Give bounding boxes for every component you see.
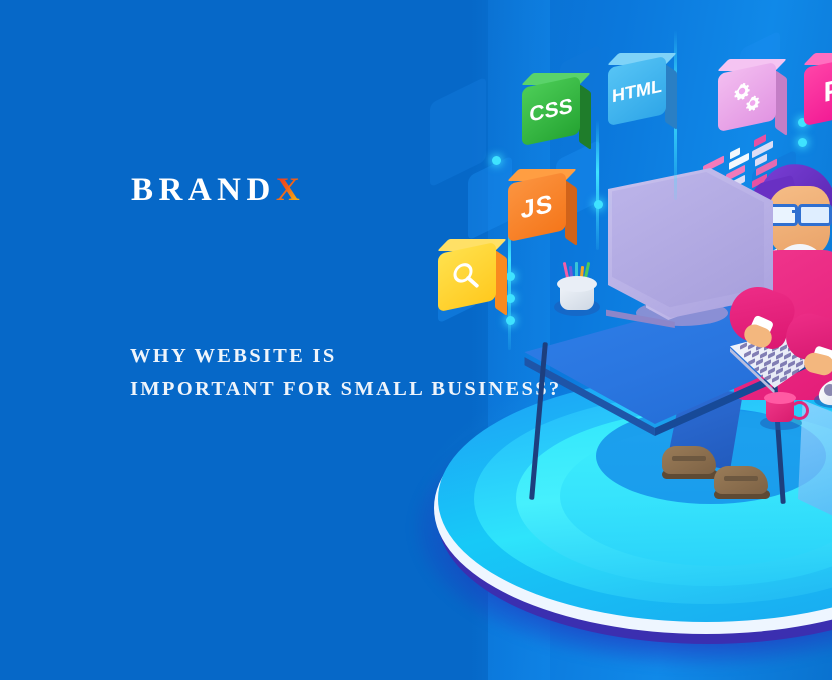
connector-dot-2 — [506, 294, 515, 303]
html-icon: HTML — [608, 56, 666, 126]
tech-card-php-label: P — [824, 73, 832, 109]
keyboard-key — [760, 351, 767, 359]
brand-logo: BRANDX — [131, 174, 305, 207]
illustration: JS CSS HTML — [400, 0, 832, 680]
connector-dot-3 — [506, 316, 515, 325]
boot-strap-left — [672, 456, 706, 461]
keyboard-key — [768, 367, 775, 375]
pencil-cup-lip — [557, 276, 597, 292]
brand-name: BRAND — [131, 172, 276, 208]
tech-card-html[interactable]: HTML — [608, 62, 666, 120]
connector-dot-5 — [594, 200, 603, 209]
keyboard-key — [764, 359, 771, 367]
tech-card-html-side — [665, 64, 677, 130]
glasses-icon — [764, 204, 832, 221]
javascript-icon: JS — [508, 172, 566, 242]
tech-card-javascript-side — [565, 180, 577, 246]
keyboard-key — [776, 352, 783, 360]
glasses-lens-right — [798, 204, 832, 226]
tech-card-javascript[interactable]: JS — [508, 178, 566, 236]
search-icon — [438, 242, 496, 312]
keyboard-key — [796, 361, 803, 369]
keyboard-key — [740, 342, 747, 350]
keyboard-key — [752, 351, 759, 359]
tech-card-php[interactable]: P — [804, 62, 832, 120]
tech-card-css-label: CSS — [529, 94, 572, 127]
keyboard-key — [772, 359, 779, 367]
tech-card-javascript-label: JS — [521, 189, 554, 225]
php-icon: P — [804, 56, 832, 126]
keyboard-key — [772, 375, 779, 383]
brand-accent-letter: X — [276, 172, 305, 208]
keyboard-key — [780, 360, 787, 368]
tech-card-css[interactable]: CSS — [522, 82, 580, 140]
mug-rim — [764, 392, 796, 404]
tech-card-css-side — [579, 84, 591, 150]
connector-line-2 — [596, 120, 599, 250]
tech-card-gears[interactable] — [718, 68, 776, 126]
keyboard-key — [756, 359, 763, 367]
css-icon: CSS — [522, 76, 580, 146]
tech-card-search[interactable] — [438, 248, 496, 306]
keyboard-key — [776, 367, 783, 375]
tech-card-search-side — [495, 250, 507, 316]
connector-dot-7 — [798, 138, 807, 147]
promo-banner: BRANDX WHY WEBSITE IS IMPORTANT FOR SMAL… — [0, 0, 832, 680]
keyboard-key — [760, 367, 767, 375]
keyboard-key — [744, 350, 751, 358]
keyboard-key — [784, 352, 791, 360]
keyboard-key — [768, 351, 775, 359]
connector-dot-4 — [492, 156, 501, 165]
keyboard-key — [784, 368, 791, 376]
gears-icon — [718, 62, 776, 132]
tech-card-html-label: HTML — [612, 75, 662, 107]
tech-card-gears-side — [775, 70, 787, 136]
boot-strap-right — [724, 476, 758, 481]
connector-dot-1 — [506, 272, 515, 281]
keyboard-key — [788, 360, 795, 368]
